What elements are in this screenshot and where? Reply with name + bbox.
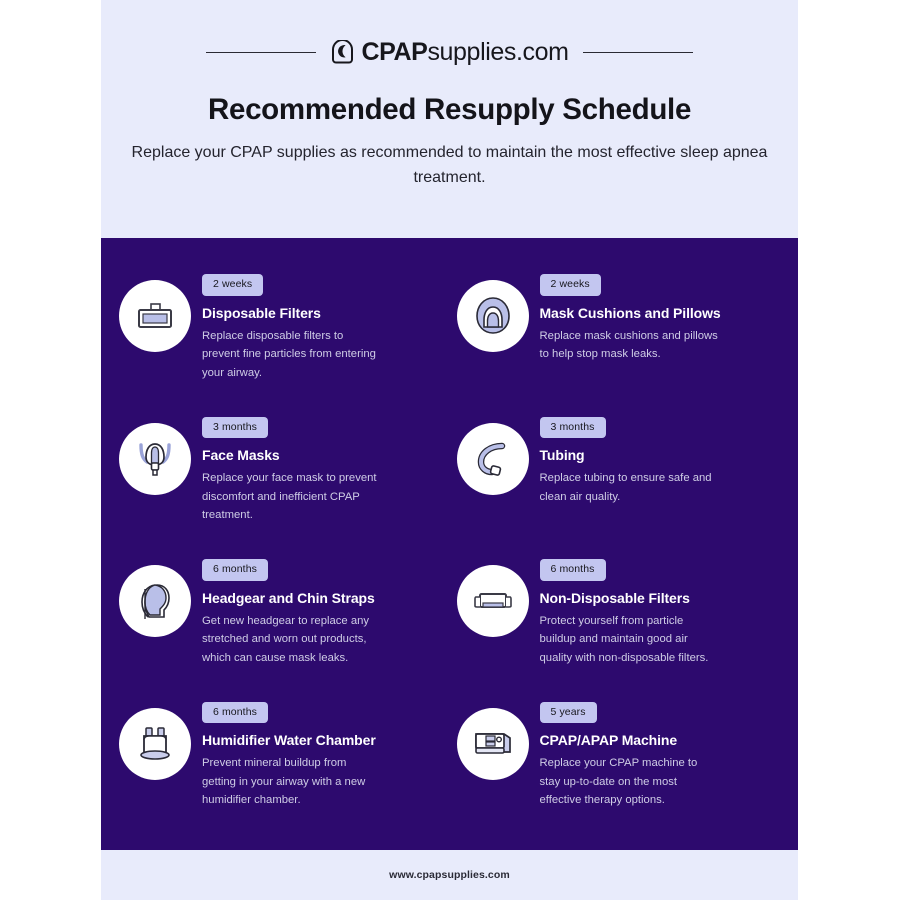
card-title: Face Masks [202, 447, 443, 463]
card-body: 2 weeks Disposable Filters Replace dispo… [202, 272, 443, 382]
card-body: 6 months Non-Disposable Filters Protect … [540, 557, 781, 667]
card-title: Non-Disposable Filters [540, 590, 781, 606]
humidifier-chamber-icon [133, 722, 177, 766]
card-body: 3 months Tubing Replace tubing to ensure… [540, 415, 781, 507]
icon-bubble [457, 708, 529, 780]
interval-badge: 2 weeks [540, 274, 601, 296]
card-title: Humidifier Water Chamber [202, 732, 443, 748]
headgear-icon [133, 579, 177, 623]
schedule-card[interactable]: 2 weeks Mask Cushions and Pillows Replac… [457, 272, 781, 415]
tubing-icon [471, 437, 515, 481]
interval-badge: 2 weeks [202, 274, 263, 296]
icon-bubble [119, 280, 191, 352]
interval-badge: 6 months [202, 559, 268, 581]
brand-name-bold: CPAP [361, 38, 427, 66]
mask-cushion-icon [471, 294, 515, 338]
brand-name-regular: supplies.com [427, 38, 568, 66]
schedule-card[interactable]: 3 months Face Masks Replace your face ma… [119, 415, 443, 558]
card-description: Replace mask cushions and pillows to hel… [540, 327, 720, 364]
schedule-band: 2 weeks Disposable Filters Replace dispo… [101, 238, 798, 850]
card-description: Prevent mineral buildup from getting in … [202, 754, 382, 810]
card-title: Tubing [540, 447, 781, 463]
schedule-card[interactable]: 5 years CPAP/APAP Machine Replace your C… [457, 700, 781, 843]
cpap-machine-icon [471, 722, 515, 766]
header: CPAPsupplies.com Recommended Resupply Sc… [101, 0, 798, 238]
card-description: Replace your CPAP machine to stay up-to-… [540, 754, 720, 810]
card-body: 3 months Face Masks Replace your face ma… [202, 415, 443, 525]
card-description: Get new headgear to replace any stretche… [202, 612, 382, 668]
page-subtitle: Replace your CPAP supplies as recommende… [101, 140, 798, 190]
moon-in-rounded-square-icon [330, 40, 356, 66]
logo-row: CPAPsupplies.com [101, 38, 798, 67]
schedule-card[interactable]: 3 months Tubing Replace tubing to ensure… [457, 415, 781, 558]
card-description: Replace your face mask to prevent discom… [202, 469, 382, 525]
schedule-card[interactable]: 6 months Headgear and Chin Straps Get ne… [119, 557, 443, 700]
page-title: Recommended Resupply Schedule [101, 93, 798, 127]
card-body: 6 months Humidifier Water Chamber Preven… [202, 700, 443, 810]
icon-bubble [457, 565, 529, 637]
interval-badge: 3 months [202, 417, 268, 439]
logo-rule-left [206, 52, 316, 53]
schedule-card[interactable]: 6 months Non-Disposable Filters Protect … [457, 557, 781, 700]
icon-bubble [457, 280, 529, 352]
card-description: Replace tubing to ensure safe and clean … [540, 469, 720, 506]
icon-bubble [119, 423, 191, 495]
infographic-page: CPAPsupplies.com Recommended Resupply Sc… [101, 0, 798, 900]
card-title: Disposable Filters [202, 305, 443, 321]
card-body: 5 years CPAP/APAP Machine Replace your C… [540, 700, 781, 810]
card-description: Replace disposable filters to prevent fi… [202, 327, 382, 383]
schedule-grid: 2 weeks Disposable Filters Replace dispo… [119, 272, 780, 842]
interval-badge: 5 years [540, 702, 597, 724]
disposable-filter-icon [133, 294, 177, 338]
icon-bubble [119, 708, 191, 780]
non-disposable-filter-icon [471, 579, 515, 623]
schedule-card[interactable]: 6 months Humidifier Water Chamber Preven… [119, 700, 443, 843]
card-title: Mask Cushions and Pillows [540, 305, 781, 321]
brand-logo[interactable]: CPAPsupplies.com [330, 38, 568, 67]
interval-badge: 6 months [202, 702, 268, 724]
card-body: 6 months Headgear and Chin Straps Get ne… [202, 557, 443, 667]
schedule-card[interactable]: 2 weeks Disposable Filters Replace dispo… [119, 272, 443, 415]
interval-badge: 3 months [540, 417, 606, 439]
interval-badge: 6 months [540, 559, 606, 581]
logo-rule-right [583, 52, 693, 53]
card-title: CPAP/APAP Machine [540, 732, 781, 748]
card-body: 2 weeks Mask Cushions and Pillows Replac… [540, 272, 781, 364]
brand-name: CPAPsupplies.com [361, 38, 568, 67]
footer-url[interactable]: www.cpapsupplies.com [389, 869, 510, 881]
card-title: Headgear and Chin Straps [202, 590, 443, 606]
footer: www.cpapsupplies.com [101, 850, 798, 900]
icon-bubble [119, 565, 191, 637]
icon-bubble [457, 423, 529, 495]
card-description: Protect yourself from particle buildup a… [540, 612, 720, 668]
face-mask-icon [133, 437, 177, 481]
